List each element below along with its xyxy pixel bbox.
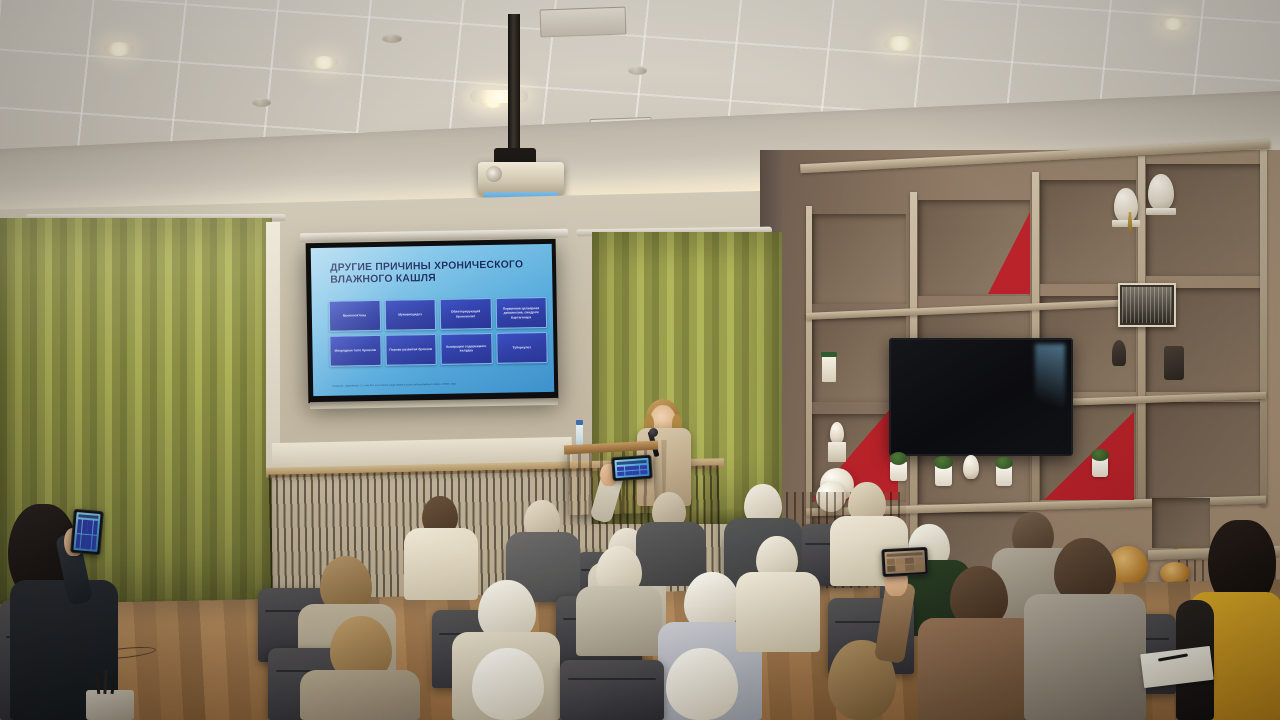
microphone-head: [649, 428, 658, 437]
ceiling-downlight: [310, 56, 338, 69]
slide-box-label: Бронхоэктазы: [343, 314, 366, 319]
smoke-detector: [252, 98, 271, 107]
smartphone-left[interactable]: [70, 509, 104, 555]
smartphone-centre[interactable]: [611, 455, 653, 482]
water-bottle: [576, 424, 583, 446]
slide-box: Облитерирующий бронхиолит: [440, 298, 492, 330]
slide-box-label: Инородное тело бронхов: [335, 348, 376, 353]
bottle-cap: [576, 420, 583, 425]
phone-screen: [884, 550, 925, 574]
presentation-room-photo: ДРУГИЕ ПРИЧИНЫ ХРОНИЧЕСКОГО ВЛАЖНОГО КАШ…: [0, 0, 1280, 720]
slide-box: Пороки развития бронхов: [385, 333, 437, 365]
tv-screen-glare: [1035, 344, 1065, 428]
pillar-candle: [822, 356, 836, 382]
ceiling-downlight: [884, 36, 916, 51]
audience-head: [472, 648, 544, 720]
shelf-cell: [1146, 402, 1266, 502]
slide-citation: Chang A.B., Oppenheimer J.J., Irwin R.S.…: [332, 382, 542, 389]
slide-box-label: Облитерирующий бронхиолит: [443, 309, 489, 318]
presentation-slide: ДРУГИЕ ПРИЧИНЫ ХРОНИЧЕСКОГО ВЛАЖНОГО КАШ…: [311, 244, 555, 396]
shelf-divider: [1138, 156, 1145, 504]
slide-box: Аспирация содержимого желудка: [440, 332, 492, 364]
audience-torso: [918, 618, 1036, 720]
slide-box-label: Аспирация содержимого желудка: [443, 344, 489, 353]
slide-box: Туберкулез: [496, 331, 548, 363]
slide-box-label: Первичная цилиарная дискинезия, синдром …: [498, 306, 544, 319]
smoke-detector: [628, 66, 647, 75]
small-figurine: [963, 455, 979, 479]
dark-vase: [1164, 346, 1184, 380]
audience-torso: [736, 572, 820, 652]
framed-architectural-print: [1118, 283, 1176, 327]
phone-screen: [614, 458, 649, 478]
shelf-divider: [1260, 150, 1267, 506]
smoke-detector: [382, 34, 402, 43]
dark-ornament: [1112, 340, 1126, 366]
planter-greenery: [995, 457, 1013, 469]
slide-box-grid: Бронхоэктазы Муковисцидоз Облитерирующий…: [329, 297, 548, 366]
ceiling-downlight: [104, 42, 134, 56]
slide-box: Инородное тело бронхов: [329, 334, 381, 366]
audience-torso: [576, 586, 662, 656]
smartphone-right[interactable]: [881, 547, 928, 577]
projection-screen[interactable]: ДРУГИЕ ПРИЧИНЫ ХРОНИЧЕСКОГО ВЛАЖНОГО КАШ…: [306, 239, 559, 403]
phone-slide-boxes: [887, 557, 924, 572]
projector-lens: [486, 166, 502, 182]
phone-slide-boxes: [617, 465, 648, 476]
candle-top: [821, 352, 837, 357]
bust-plinth: [828, 442, 846, 462]
print-image: [1122, 287, 1172, 323]
small-plaster-head: [830, 422, 844, 444]
audience-chair[interactable]: [560, 660, 664, 720]
shelf-cell: [812, 214, 906, 304]
phone-slide-title-bar: [887, 552, 923, 557]
chair-seam: [568, 678, 655, 680]
slide-box-label: Пороки развития бронхов: [389, 347, 432, 352]
slide-box-label: Муковисцидоз: [398, 313, 422, 318]
slide-box: Первичная цилиарная дискинезия, синдром …: [495, 297, 547, 329]
white-planter: [935, 466, 952, 486]
shelf-cell: [1152, 498, 1210, 548]
slide-box: Бронхоэктазы: [329, 300, 381, 332]
bust-plinth: [1112, 220, 1140, 227]
ceiling-air-vent: [540, 7, 627, 38]
audience-torso: [404, 528, 478, 600]
phone-slide-title-bar: [78, 514, 98, 519]
audience-torso: [1024, 594, 1146, 720]
slide-box: Муковисцидоз: [384, 299, 436, 331]
window-gap: [266, 222, 280, 472]
audience-head: [666, 648, 738, 720]
audience-torso: [300, 670, 420, 720]
wall-mounted-television[interactable]: [889, 338, 1073, 456]
classical-bust: [1114, 188, 1138, 222]
classical-bust: [1148, 174, 1174, 210]
planter-greenery: [1091, 449, 1109, 461]
bust-plinth: [1146, 208, 1176, 215]
white-planter: [996, 466, 1012, 486]
phone-slide-boxes: [76, 519, 98, 550]
slide-title: ДРУГИЕ ПРИЧИНЫ ХРОНИЧЕСКОГО ВЛАЖНОГО КАШ…: [330, 259, 542, 287]
planter-greenery: [890, 452, 907, 465]
phone-screen: [73, 512, 100, 552]
ceiling-downlight: [1160, 18, 1186, 30]
projector-mount-pole: [508, 14, 520, 154]
planter-greenery: [934, 456, 953, 469]
pen-holder: [86, 690, 134, 720]
slide-box-label: Туберкулез: [512, 345, 531, 350]
